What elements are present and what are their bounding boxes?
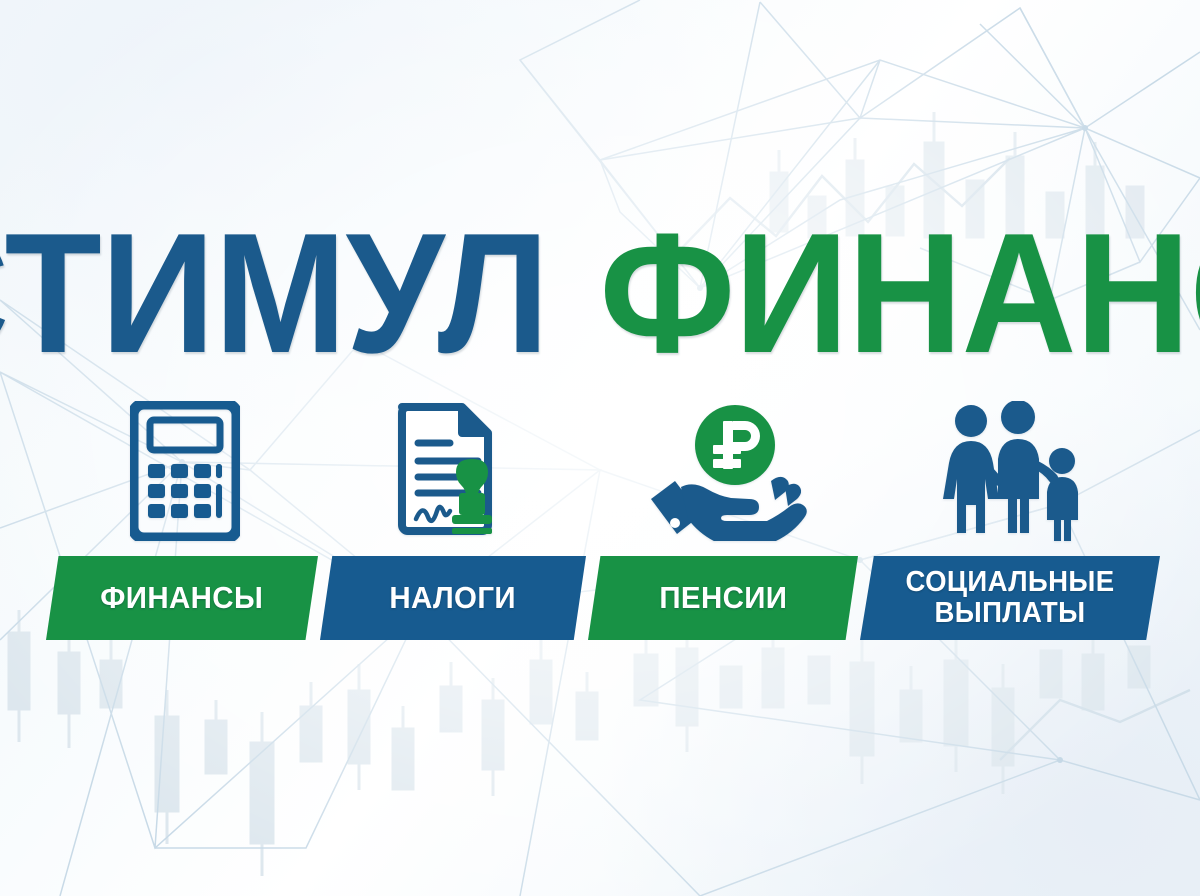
ribbon-pensii[interactable]: ПЕНСИИ <box>588 556 858 640</box>
hand-ruble-coin-icon <box>640 398 815 543</box>
ribbon-label-socialnye-vyplaty: СОЦИАЛЬНЫЕ ВЫПЛАТЫ <box>905 567 1114 628</box>
icon-row <box>0 398 1200 543</box>
ribbon-label-nalogi: НАЛОГИ <box>390 582 517 614</box>
ribbon-nalogi[interactable]: НАЛОГИ <box>320 556 586 640</box>
ribbon-label-pensii: ПЕНСИИ <box>659 582 787 614</box>
category-ribbon-row: ФИНАНСЫ НАЛОГИ ПЕНСИИ СОЦИАЛЬНЫЕ ВЫПЛАТЫ <box>0 553 1200 645</box>
poster-canvas: СТИМУЛ ФИНАНС <box>0 0 1200 896</box>
ribbon-finansy[interactable]: ФИНАНСЫ <box>46 556 318 640</box>
calculator-icon <box>110 398 260 543</box>
title-word-stimul: СТИМУЛ <box>0 208 548 379</box>
ribbon-label-finansy: ФИНАНСЫ <box>101 582 264 614</box>
family-icon <box>930 398 1095 543</box>
page-title: СТИМУЛ ФИНАНС <box>0 218 1200 368</box>
title-word-finans: ФИНАНС <box>600 208 1200 379</box>
ribbon-socialnye-vyplaty[interactable]: СОЦИАЛЬНЫЕ ВЫПЛАТЫ <box>860 556 1160 640</box>
document-stamp-icon <box>380 398 535 543</box>
